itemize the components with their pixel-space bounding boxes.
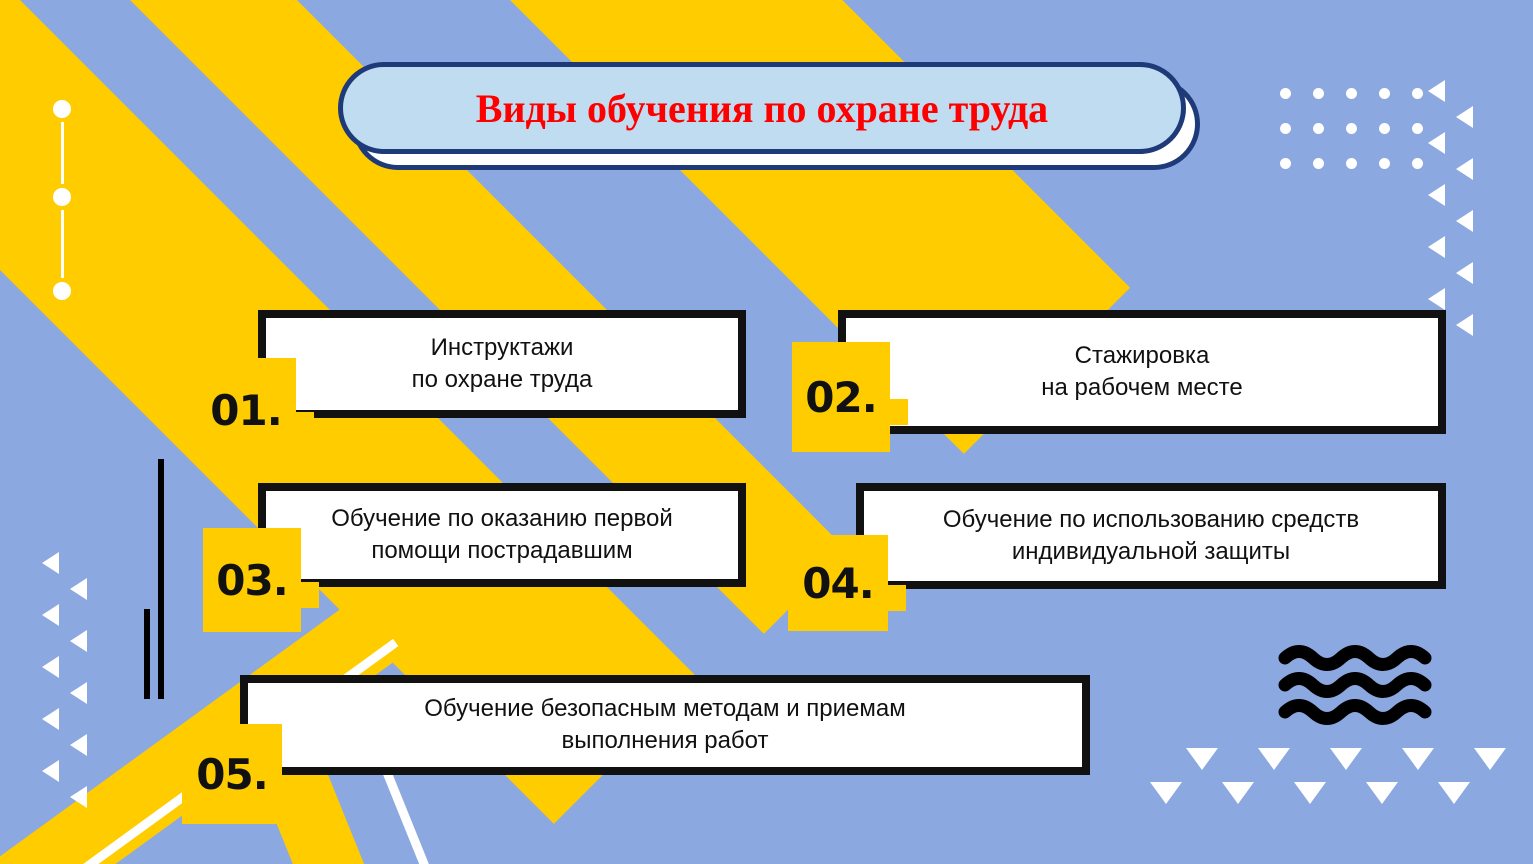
grid-dot — [1346, 88, 1357, 99]
connector-dot — [53, 188, 71, 206]
item-card[interactable]: Обучение по оказанию первой помощи постр… — [258, 483, 746, 587]
item-card[interactable]: Инструктажи по охране труда — [258, 310, 746, 418]
zigzag-triangle — [70, 734, 87, 756]
item-card[interactable]: Стажировка на рабочем месте — [838, 310, 1446, 434]
grid-dot — [1412, 123, 1423, 134]
row-triangle — [1438, 782, 1470, 804]
zigzag-triangle — [1428, 288, 1445, 310]
zigzag-triangle — [1428, 184, 1445, 206]
grid-dot — [1313, 158, 1324, 169]
black-vertical-rule-short — [144, 609, 150, 699]
zigzag-triangle — [70, 682, 87, 704]
grid-dot — [1280, 123, 1291, 134]
connector-dot — [53, 100, 71, 118]
zigzag-triangle — [42, 708, 59, 730]
item-number: 04. — [802, 559, 873, 608]
zigzag-triangle — [1456, 314, 1473, 336]
row-triangle — [1294, 782, 1326, 804]
item-number: 03. — [216, 556, 287, 605]
item-label: Обучение безопасным методам и приемам вы… — [408, 689, 921, 760]
row-triangle — [1186, 748, 1218, 770]
item-number-badge[interactable]: 02. — [792, 342, 890, 452]
grid-dot — [1313, 123, 1324, 134]
zigzag-triangle — [1456, 158, 1473, 180]
zigzag-triangle — [70, 630, 87, 652]
grid-dot — [1346, 158, 1357, 169]
zigzag-triangle — [1456, 210, 1473, 232]
row-triangle — [1366, 782, 1398, 804]
zigzag-triangle — [42, 604, 59, 626]
item-number-badge[interactable]: 05. — [182, 724, 282, 824]
grid-dot — [1280, 88, 1291, 99]
item-number: 02. — [805, 373, 876, 422]
zigzag-triangle — [1428, 132, 1445, 154]
zigzag-triangle — [1428, 80, 1445, 102]
title-pill: Виды обучения по охране труда — [338, 62, 1186, 154]
black-vertical-rule-long — [158, 459, 164, 699]
grid-dot — [1379, 158, 1390, 169]
slide-canvas: Виды обучения по охране труда Инструктаж… — [0, 0, 1533, 864]
item-card[interactable]: Обучение безопасным методам и приемам вы… — [240, 675, 1090, 775]
zigzag-triangle — [42, 760, 59, 782]
zigzag-triangle — [42, 552, 59, 574]
grid-dot — [1280, 158, 1291, 169]
slide-title-banner: Виды обучения по охране труда — [338, 62, 1200, 172]
grid-dot — [1379, 88, 1390, 99]
row-triangle — [1402, 748, 1434, 770]
connector-segment — [61, 210, 64, 278]
grid-dot — [1412, 88, 1423, 99]
item-number-badge[interactable]: 04. — [788, 535, 888, 631]
row-triangle — [1474, 748, 1506, 770]
page-title: Виды обучения по охране труда — [476, 85, 1048, 132]
zigzag-triangle — [70, 578, 87, 600]
grid-dot — [1346, 123, 1357, 134]
zigzag-triangle — [1456, 262, 1473, 284]
item-card[interactable]: Обучение по использованию средств индиви… — [856, 483, 1446, 589]
black-wavy-lines — [1278, 645, 1453, 730]
zigzag-triangle — [70, 786, 87, 808]
row-triangle — [1330, 748, 1362, 770]
grid-dot — [1412, 158, 1423, 169]
row-triangle — [1222, 782, 1254, 804]
connector-segment — [61, 122, 64, 184]
white-dot-connector — [53, 100, 71, 310]
zigzag-triangle — [1456, 106, 1473, 128]
row-triangle — [1150, 782, 1182, 804]
row-triangle — [1258, 748, 1290, 770]
connector-dot — [53, 282, 71, 300]
zigzag-triangle — [1428, 236, 1445, 258]
item-label: Обучение по использованию средств индиви… — [927, 500, 1375, 571]
item-number: 01. — [210, 386, 281, 435]
item-number: 05. — [196, 750, 267, 799]
zigzag-triangle — [42, 656, 59, 678]
item-label: Инструктажи по охране труда — [396, 328, 609, 399]
item-label: Стажировка на рабочем месте — [1025, 336, 1258, 407]
item-number-badge[interactable]: 01. — [196, 358, 296, 462]
grid-dot — [1379, 123, 1390, 134]
grid-dot — [1313, 88, 1324, 99]
item-number-badge[interactable]: 03. — [203, 528, 301, 632]
item-label: Обучение по оказанию первой помощи постр… — [315, 499, 688, 570]
